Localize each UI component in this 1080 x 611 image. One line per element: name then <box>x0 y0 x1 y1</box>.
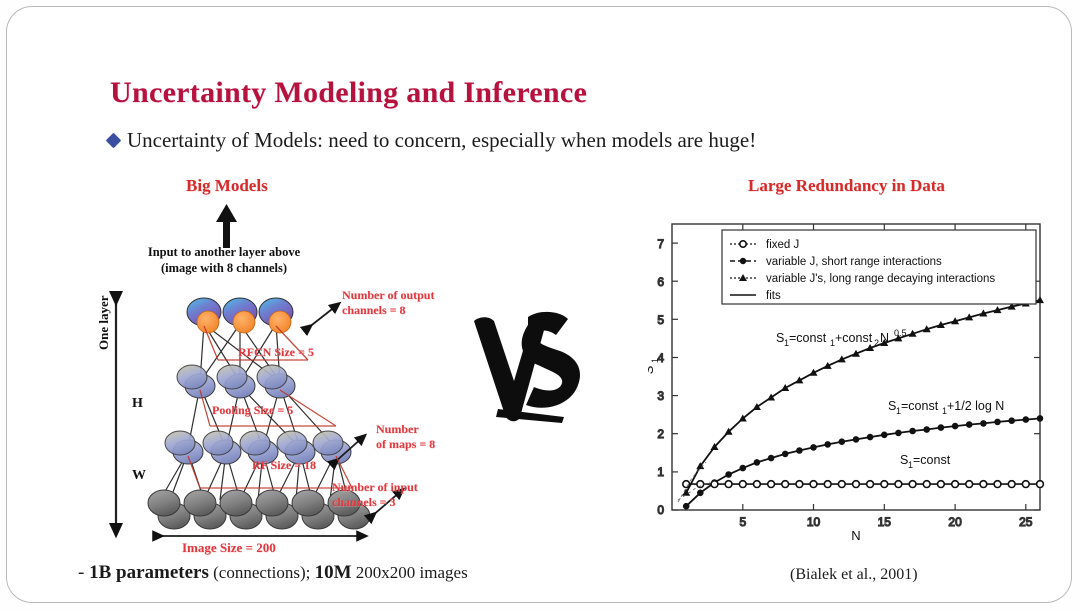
w-label: W <box>132 468 146 484</box>
legend-label-0: fixed J <box>766 239 799 251</box>
footnote: - 1B parameters (connections); 10M 200x2… <box>78 562 468 584</box>
h-label: H <box>132 396 143 412</box>
legend-label-1: variable J, short range interactions <box>766 256 942 268</box>
left-section-heading: Big Models <box>186 176 268 196</box>
svg-text:6: 6 <box>657 275 664 289</box>
svg-text:+1/2 log N: +1/2 log N <box>947 399 1004 413</box>
svg-text:15: 15 <box>878 515 892 529</box>
number-of-maps-annotation: Number of maps = 8 <box>376 422 435 453</box>
svg-text:S: S <box>648 365 656 374</box>
legend-item-long-range: variable J's, long range decaying intera… <box>730 273 995 285</box>
bullet-row: Uncertainty of Models: need to concern, … <box>108 128 756 153</box>
svg-text:2: 2 <box>874 338 879 348</box>
chart-legend: fixed J variable J, short range interact… <box>722 230 1036 304</box>
footnote-10m: 10M <box>315 562 352 583</box>
one-layer-label: One layer <box>96 295 112 350</box>
svg-text:N: N <box>880 331 889 345</box>
y-axis-label: S 1 <box>648 358 660 374</box>
footnote-connections: (connections); <box>209 563 315 582</box>
svg-text:10: 10 <box>807 515 821 529</box>
chart-citation: (Bialek et al., 2001) <box>790 566 918 584</box>
svg-text:1: 1 <box>657 465 664 479</box>
svg-text:20: 20 <box>948 515 962 529</box>
svg-text:0: 0 <box>657 503 664 517</box>
diamond-bullet-icon <box>106 133 122 149</box>
page-title: Uncertainty Modeling and Inference <box>110 76 587 110</box>
svg-text:=const: =const <box>913 453 951 467</box>
svg-text:25: 25 <box>1019 515 1033 529</box>
svg-text:1: 1 <box>650 358 660 363</box>
svg-text:3: 3 <box>657 389 664 403</box>
output-channels-annotation: Number of output channels = 8 <box>342 288 434 319</box>
svg-text:7: 7 <box>657 237 664 251</box>
legend-label-2: variable J's, long range decaying intera… <box>766 273 995 285</box>
x-axis-label: N <box>851 528 860 540</box>
pooling-size-annotation: Pooling Size = 5 <box>212 403 293 418</box>
chart-svg: 0 1 2 3 4 5 6 7 5 10 15 20 25 <box>648 210 1048 540</box>
footnote-images: 200x200 images <box>352 563 468 582</box>
footnote-params: 1B parameters <box>89 562 209 583</box>
svg-text:0.5: 0.5 <box>894 328 907 338</box>
rfcn-size-annotation: RFCN Size = 5 <box>238 345 314 360</box>
svg-text:2: 2 <box>657 427 664 441</box>
redundancy-chart: 0 1 2 3 4 5 6 7 5 10 15 20 25 <box>648 210 1048 540</box>
svg-text:5: 5 <box>739 515 746 529</box>
versus-icon <box>468 305 598 425</box>
footnote-dash: - <box>78 562 89 583</box>
rf-size-annotation: RF Size = 18 <box>252 458 316 473</box>
svg-text:=const: =const <box>901 399 939 413</box>
feature-map-nodes-level3 <box>177 365 295 398</box>
image-size-annotation: Image Size = 200 <box>182 540 276 557</box>
input-channels-annotation: Number of input channels = 3 <box>332 480 418 511</box>
bullet-text: Uncertainty of Models: need to concern, … <box>127 128 756 153</box>
svg-text:=const: =const <box>789 331 827 345</box>
right-section-heading: Large Redundancy in Data <box>748 176 945 196</box>
up-arrow-icon <box>216 204 237 248</box>
svg-text:5: 5 <box>657 313 664 327</box>
legend-label-3: fits <box>766 290 781 302</box>
versus-mark <box>468 305 598 425</box>
slide-root: Uncertainty Modeling and Inference Uncer… <box>0 0 1080 611</box>
svg-text:+const: +const <box>835 331 873 345</box>
